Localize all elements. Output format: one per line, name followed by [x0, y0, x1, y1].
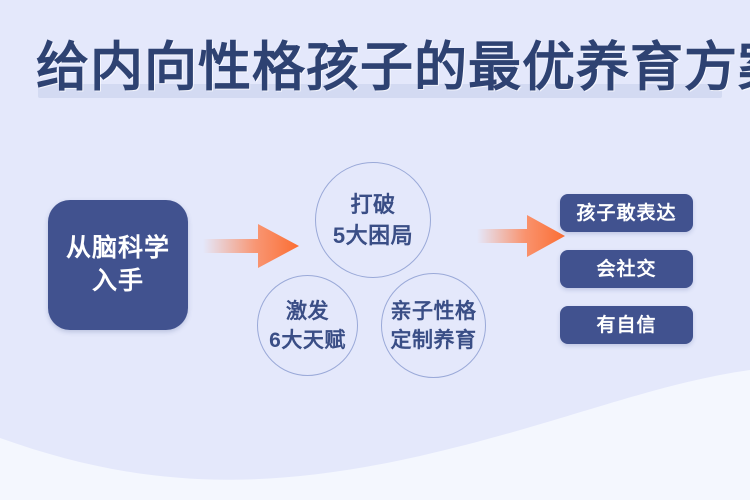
method-circle-custom-parenting[interactable]: 亲子性格 定制养育	[381, 273, 486, 378]
method-circle-line-2: 6大天赋	[269, 326, 346, 355]
outcome-pill-confidence[interactable]: 有自信	[560, 306, 693, 344]
method-circle-line-1: 激发	[286, 297, 329, 326]
source-box-line-1: 从脑科学	[66, 232, 170, 265]
arrow-right-icon-methods-to-outcomes	[477, 213, 565, 259]
arrow-right-icon-source-to-methods	[203, 222, 299, 270]
outcome-pill-social-skills[interactable]: 会社交	[560, 250, 693, 288]
method-circle-line-2: 定制养育	[391, 326, 477, 355]
method-circle-line-1: 打破	[350, 189, 395, 220]
page-title: 给内向性格孩子的最优养育方案	[36, 38, 750, 98]
poster-title-block: 给内向性格孩子的最优养育方案	[36, 38, 736, 108]
method-circle-break-dilemmas[interactable]: 打破 5大困局	[315, 162, 431, 278]
outcome-pill-label: 会社交	[596, 260, 656, 279]
method-circle-spark-talents[interactable]: 激发 6大天赋	[257, 275, 358, 376]
source-box-brain-science[interactable]: 从脑科学 入手	[48, 200, 188, 330]
source-box-line-2: 入手	[92, 265, 144, 298]
outcome-pill-dare-express[interactable]: 孩子敢表达	[560, 194, 693, 232]
poster-canvas: 给内向性格孩子的最优养育方案 从脑科学 入手 打破 5大困局	[0, 0, 750, 500]
method-circle-line-1: 亲子性格	[391, 297, 477, 326]
method-circle-line-2: 5大困局	[333, 220, 413, 251]
outcome-pill-label: 有自信	[596, 316, 656, 335]
outcome-pill-label: 孩子敢表达	[576, 204, 676, 223]
bottom-wave-decoration	[0, 360, 750, 500]
